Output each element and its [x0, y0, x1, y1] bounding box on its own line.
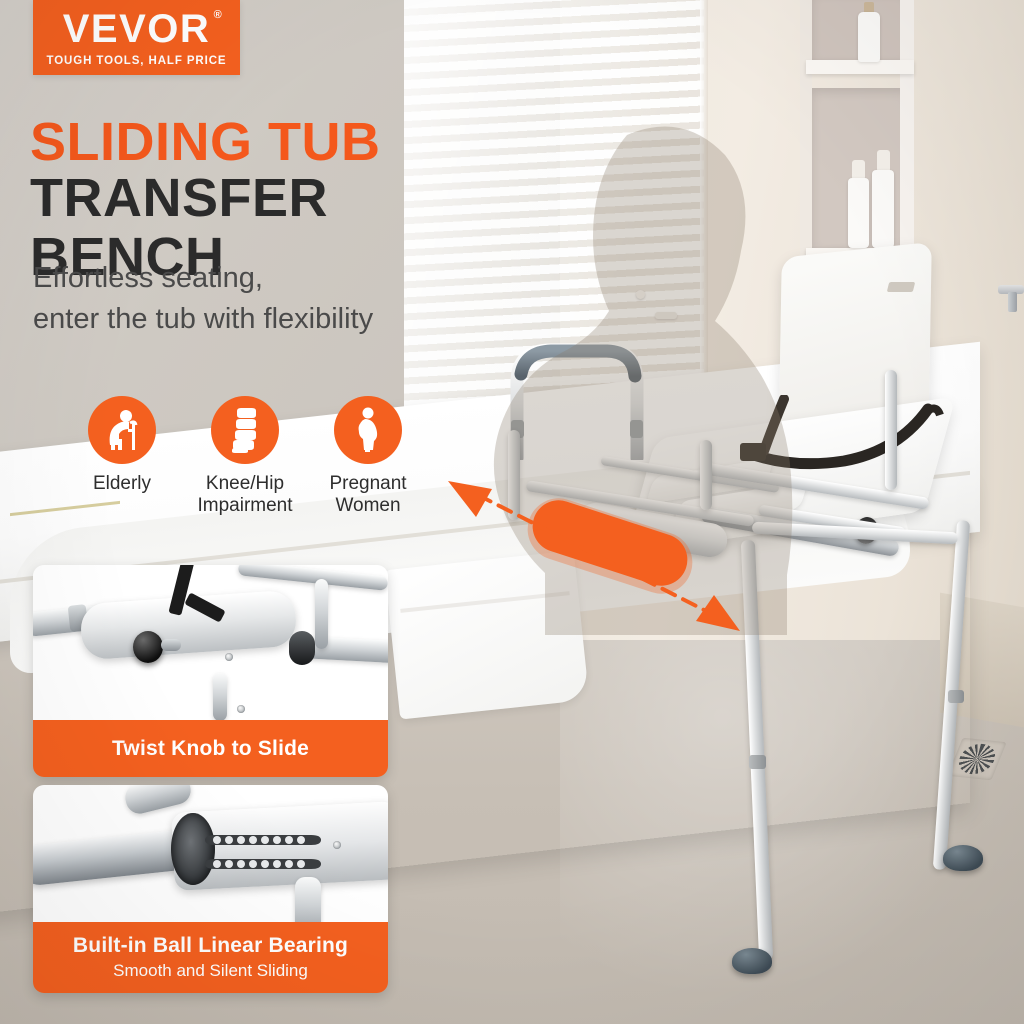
feature-subtitle-ball-bearing: Smooth and Silent Sliding [113, 961, 308, 981]
badge-elderly: Elderly [52, 396, 192, 495]
badge-label-knee-hip-line1: Knee/Hip [175, 473, 315, 495]
leg-height-band-rear [948, 690, 964, 703]
badge-circle-pregnant [334, 396, 402, 464]
bathtub-panel-screw [636, 290, 645, 299]
pump-head-right [877, 150, 890, 172]
macro-twist-knob [133, 631, 163, 663]
macro-vertical-post [295, 877, 321, 922]
leg-height-band-front [749, 755, 766, 769]
subheadline-line-2: enter the tub with flexibility [33, 299, 463, 340]
macro-frame-tube-vertical [315, 579, 328, 649]
pregnant-woman-icon [351, 407, 385, 453]
macro-bearing-collar-right [289, 631, 315, 665]
backrest-notch [887, 282, 915, 292]
feature-caption-bar-twist-knob: Twist Knob to Slide [33, 720, 388, 777]
feature-caption-bar-ball-bearing: Built-in Ball Linear Bearing Smooth and … [33, 922, 388, 993]
shelf-post-left [800, 0, 812, 270]
macro-frame-tube-upper [238, 565, 388, 591]
soap-dispenser-left [848, 178, 869, 248]
macro-frame-tube-lower [213, 673, 227, 720]
bathtub-panel-clip [655, 312, 677, 319]
macro-ball-bearing-balls-icon [201, 819, 331, 883]
badge-circle-elderly [88, 396, 156, 464]
pump-head-left [852, 160, 865, 180]
toiletry-bottle-top [858, 12, 880, 62]
logo-word-text: VEVOR [63, 7, 211, 51]
bench-leg-seat-post [885, 370, 897, 490]
bench-foot-front [732, 948, 772, 974]
feature-photo-twist-knob [33, 565, 388, 720]
macro-screw [225, 653, 233, 661]
subheadline-line-1: Effortless seating, [33, 258, 463, 299]
vevor-logo: VEVOR® TOUGH TOOLS, HALF PRICE [33, 0, 240, 75]
wall-faucet-neck [1008, 292, 1017, 312]
macro-housing-screw [333, 841, 341, 849]
feature-photo-ball-bearing [33, 785, 388, 922]
feature-title-ball-bearing: Built-in Ball Linear Bearing [73, 934, 348, 958]
product-marketing-image: VEVOR® TOUGH TOOLS, HALF PRICE SLIDING T… [0, 0, 1024, 1024]
feature-title-twist-knob: Twist Knob to Slide [112, 737, 309, 761]
spine-vertebrae-icon [228, 407, 262, 453]
badge-label-pregnant: Pregnant Women [298, 473, 438, 518]
logo-tagline: TOUGH TOOLS, HALF PRICE [46, 55, 226, 67]
shelf-board-upper [806, 60, 914, 74]
feature-card-ball-bearing: Built-in Ball Linear Bearing Smooth and … [33, 785, 388, 993]
badge-label-knee-hip-line2: Impairment [175, 495, 315, 517]
badge-label-elderly: Elderly [52, 473, 192, 495]
elderly-person-with-cane-icon [102, 409, 142, 451]
audience-badges: Elderly Knee/Hip Impairment [40, 396, 440, 536]
macro-screw-2 [237, 705, 245, 713]
subheadline-block: Effortless seating, enter the tub with f… [33, 258, 463, 340]
badge-label-pregnant-line2: Women [298, 495, 438, 517]
badge-circle-knee-hip [211, 396, 279, 464]
badge-knee-hip: Knee/Hip Impairment [175, 396, 315, 518]
registered-trademark-icon: ® [214, 10, 224, 21]
bench-foot-rear [943, 845, 983, 871]
badge-pregnant: Pregnant Women [298, 396, 438, 518]
slide-direction-indicator [430, 455, 800, 655]
macro-knob-washer [161, 639, 181, 651]
shelf-post-right [900, 0, 914, 270]
logo-wordmark: VEVOR® [63, 9, 211, 49]
badge-label-knee-hip: Knee/Hip Impairment [175, 473, 315, 518]
feature-card-twist-knob: Twist Knob to Slide [33, 565, 388, 777]
soap-dispenser-right [872, 170, 894, 248]
headline-line-1: SLIDING TUB [30, 115, 500, 169]
badge-label-pregnant-line1: Pregnant [298, 473, 438, 495]
